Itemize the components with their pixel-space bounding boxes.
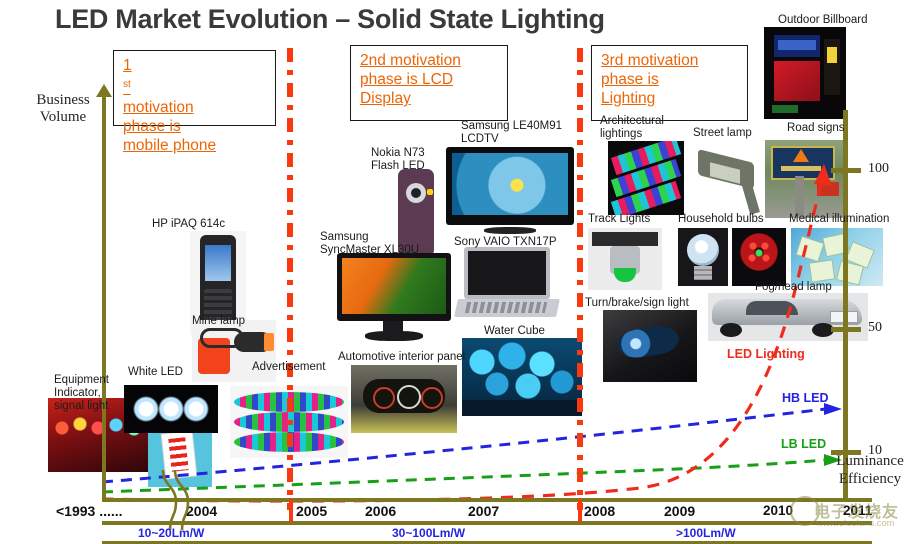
callout-phase-3-line-2: phase is	[601, 70, 659, 89]
caption-hp-ipaq: HP iPAQ 614c	[152, 218, 225, 231]
caption-street-lamp: Street lamp	[693, 127, 752, 140]
year-label-2006: 2006	[365, 503, 396, 519]
caption-fog-head-lamp: Fog/head lamp	[755, 281, 832, 294]
year-label-2007: 2007	[468, 503, 499, 519]
caption-track-lights: Track Lights	[588, 213, 650, 226]
year-tick-2008	[578, 499, 582, 522]
y-axis-label: Business Volume	[24, 92, 102, 126]
y2-tick-50	[831, 327, 861, 332]
photo-samsung-lcdtv	[446, 147, 574, 239]
efficiency-band-3: >100Lm/W	[676, 526, 736, 540]
photo-turn-brake-sign-light	[603, 310, 697, 382]
caption-medical-illumination: Medical illumination	[789, 213, 889, 226]
y2-tick-label-10: 10	[868, 443, 882, 459]
year-label-2008: 2008	[584, 503, 615, 519]
watermark: 电子发烧友 www.elecfans.com	[790, 492, 912, 544]
photo-samsung-syncmaster	[335, 253, 453, 343]
caption-nokia-n73: Nokia N73 Flash LED	[371, 147, 425, 173]
photo-architectural-lightings	[608, 141, 684, 215]
y2-tick-label-50: 50	[868, 320, 882, 336]
callout-phase-3-line-3: Lighting	[601, 89, 655, 108]
caption-road-signs: Road signs	[787, 122, 845, 135]
curve-label-led-lighting: LED Lighting	[727, 347, 805, 361]
curve-label-hb-led: HB LED	[782, 391, 829, 405]
caption-samsung-lcdtv: Samsung LE40M91 LCDTV	[461, 120, 562, 146]
callout-phase-3[interactable]: 3rd motivation phase is Lighting	[591, 45, 748, 121]
callout-phase-2-line-1: 2nd motivation	[360, 51, 461, 70]
caption-samsung-syncmaster: Samsung SyncMaster XL30U	[320, 231, 419, 257]
caption-architectural: Architectural lightings	[600, 115, 664, 141]
year-label-2005: 2005	[296, 503, 327, 519]
caption-advertisement: Advertisement	[252, 361, 326, 374]
photo-seven-segment-display	[148, 425, 212, 487]
efficiency-band-2: 30~100Lm/W	[392, 526, 465, 540]
caption-turn-brake-sign-light: Turn/brake/sign light	[585, 297, 689, 310]
photo-white-led	[124, 385, 218, 433]
x-axis-line-bottom	[102, 521, 872, 525]
y2-tick-100	[831, 168, 861, 173]
caption-mine-lamp: Mine lamp	[192, 315, 245, 328]
caption-white-led: White LED	[128, 366, 183, 379]
photo-outdoor-billboard	[764, 27, 846, 119]
year-tick-2005	[289, 499, 293, 522]
photo-street-lamp	[692, 140, 768, 216]
caption-equipment-indicator: Equipment Indicator, signal light	[54, 374, 109, 413]
photo-medical-illumination	[791, 228, 883, 286]
photo-household-bulbs-blue	[678, 228, 728, 286]
photo-sony-vaio	[454, 247, 560, 325]
photo-road-signs	[765, 140, 843, 218]
caption-outdoor-billboard: Outdoor Billboard	[778, 14, 868, 27]
phase-separator-1	[287, 48, 293, 510]
callout-phase-1-line-1: 1st motivation	[123, 56, 194, 117]
x-axis-line-top	[102, 498, 872, 502]
callout-phase-2[interactable]: 2nd motivation phase is LCD Display	[350, 45, 508, 121]
callout-phase-3-line-1: 3rd motivation	[601, 51, 698, 70]
photo-automotive-panel	[351, 365, 457, 433]
callout-phase-2-line-3: Display	[360, 89, 411, 108]
callout-phase-1-line-2: phase is	[123, 117, 181, 136]
slide-canvas: LED Market Evolution – Solid State Light…	[0, 0, 912, 544]
photo-water-cube	[462, 338, 582, 416]
photo-track-lights	[588, 228, 662, 290]
page-title: LED Market Evolution – Solid State Light…	[55, 4, 605, 35]
year-label-pre1993: <1993 ......	[56, 503, 123, 519]
caption-water-cube: Water Cube	[484, 325, 545, 338]
callout-phase-1-line-3: mobile phone	[123, 136, 216, 155]
watermark-en: www.elecfans.com	[816, 518, 895, 529]
efficiency-band-1: 10~20Lm/W	[138, 526, 204, 540]
year-label-2009: 2009	[664, 503, 695, 519]
caption-sony-vaio: Sony VAIO TXN17P	[454, 236, 556, 249]
caption-household-bulbs: Household bulbs	[678, 213, 764, 226]
callout-phase-1[interactable]: 1st motivation phase is mobile phone	[113, 50, 276, 126]
callout-phase-2-line-2: phase is LCD	[360, 70, 453, 89]
caption-automotive-panel: Automotive interior panel	[338, 351, 465, 364]
year-label-2004: 2004	[186, 503, 217, 519]
year-label-2010: 2010	[763, 503, 793, 518]
y2-tick-label-100: 100	[868, 161, 889, 177]
phase-separator-2	[577, 48, 583, 510]
curve-label-lb-led: LB LED	[781, 437, 826, 451]
photo-household-bulbs-red	[732, 228, 786, 286]
y2-tick-10	[831, 450, 861, 455]
y-axis-line	[102, 92, 106, 500]
